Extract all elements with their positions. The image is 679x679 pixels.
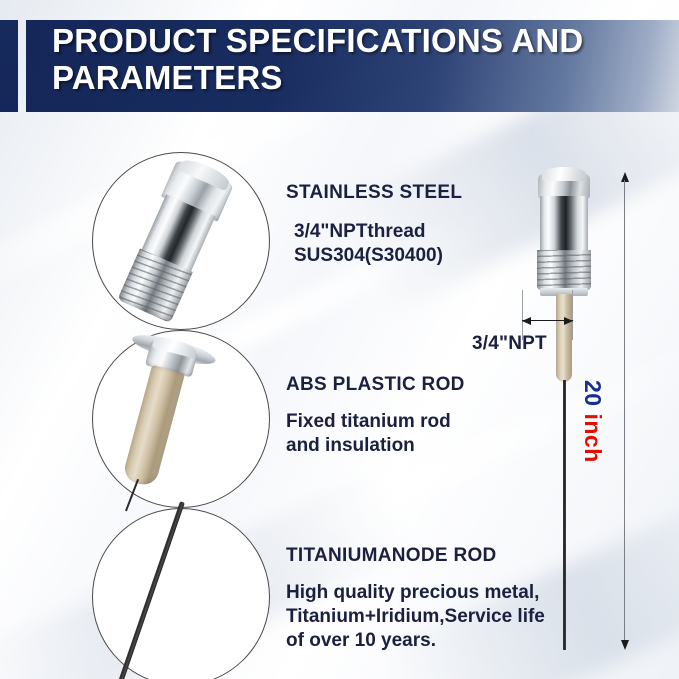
header-accent-strip [0,20,18,112]
water-heater-anode-rod-icon [520,168,630,658]
product-chrome-barrel-shape [540,196,588,252]
arrow-down-icon [621,640,629,650]
length-value: 20 [580,380,606,407]
product-hex-head-shape [538,174,590,198]
feature-heading: ABS PLASTIC ROD [286,374,556,396]
feature-heading: STAINLESS STEEL [286,182,556,204]
page-title: PRODUCT SPECIFICATIONS AND PARAMETERS [52,22,652,96]
length-dimension-label: 20 inch [579,380,606,463]
titanium-rod-shape [110,501,184,679]
product-spec-infographic: PRODUCT SPECIFICATIONS AND PARAMETERS ST… [0,0,679,679]
hex-fitting-icon [118,156,258,332]
abs-rod-icon [118,330,268,516]
product-npt-thread-shape [537,250,591,290]
dimension-line [624,180,625,642]
abs-rod-shape [122,365,185,488]
product-titanium-rod-shape [563,380,566,650]
feature-text-stainless-steel: STAINLESS STEEL 3/4"NPTthread SUS304(S30… [286,182,556,268]
feature-text-abs-plastic-rod: ABS PLASTIC ROD Fixed titanium rod and i… [286,374,556,458]
extension-line-right [572,290,573,340]
length-dimension-indicator [618,172,632,650]
titanium-wire-shape [125,479,139,511]
double-arrow-icon [522,320,573,321]
titanium-rod-icon [92,508,268,679]
thread-dimension-label: 3/4"NPT [472,333,547,355]
feature-body: 3/4"NPTthread SUS304(S30400) [294,220,556,268]
length-unit: inch [580,413,606,462]
feature-body: Fixed titanium rod and insulation [286,410,556,458]
